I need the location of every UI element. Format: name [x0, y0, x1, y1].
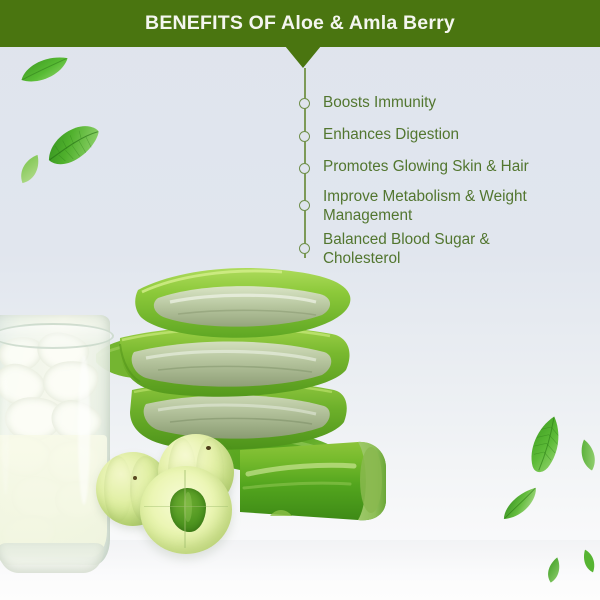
leaf-icon — [496, 483, 546, 527]
benefit-item-1: Enhances Digestion — [323, 126, 591, 145]
leaf-icon — [38, 118, 108, 173]
header-bar: BENEFITS OF Aloe & Amla Berry — [0, 0, 600, 47]
glass-of-aloe-gel — [0, 315, 110, 577]
benefit-item-4: Balanced Blood Sugar & Cholesterol — [323, 231, 559, 268]
timeline-bullet-1 — [299, 131, 310, 142]
benefit-item-2: Promotes Glowing Skin & Hair — [323, 158, 591, 177]
leaf-icon — [573, 436, 600, 475]
benefit-item-3: Improve Metabolism & Weight Management — [323, 188, 573, 225]
aloe-slice-top — [132, 268, 356, 342]
timeline-bullet-3 — [299, 200, 310, 211]
leaf-icon — [16, 52, 75, 90]
timeline-bullet-4 — [299, 243, 310, 254]
aloe-stalk — [240, 434, 392, 530]
timeline-bullet-0 — [299, 98, 310, 109]
benefits-timeline: Boosts Immunity Enhances Digestion Promo… — [296, 68, 596, 268]
header-pointer-triangle — [285, 46, 321, 68]
page-title: BENEFITS OF Aloe & Amla Berry — [145, 12, 455, 35]
amla-berry-halved — [140, 466, 232, 554]
poster-canvas: BENEFITS OF Aloe & Amla Berry Boosts Imm… — [0, 0, 600, 600]
leaf-icon — [520, 411, 570, 480]
benefit-item-0: Boosts Immunity — [323, 94, 591, 113]
timeline-bullet-2 — [299, 163, 310, 174]
